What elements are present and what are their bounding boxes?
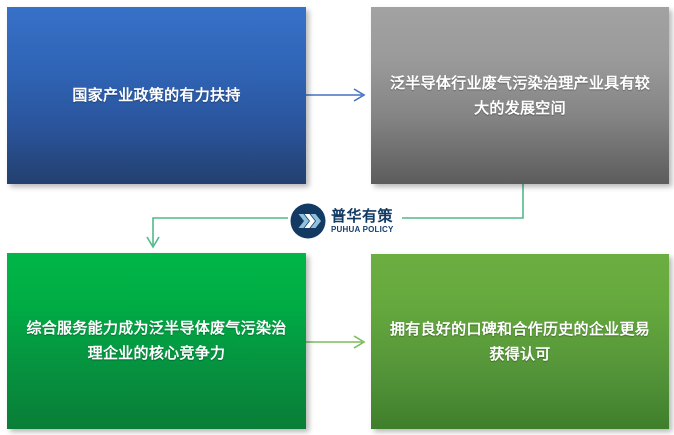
logo-name-cn: 普华有策 (331, 209, 394, 224)
node-policy-label: 国家产业政策的有力扶持 (21, 83, 292, 108)
brand-logo: 普华有策 PUHUA POLICY (288, 202, 402, 240)
node-policy[interactable]: 国家产业政策的有力扶持 (7, 7, 306, 184)
connector-policy-to-market (306, 89, 364, 101)
node-service-label: 综合服务能力成为泛半导体废气污染治理企业的核心竞争力 (21, 316, 292, 366)
logo-wordmark: 普华有策 PUHUA POLICY (331, 209, 394, 234)
chevron-circle-logo-icon (290, 203, 326, 239)
diagram-canvas: 国家产业政策的有力扶持 泛半导体行业废气污染治理产业具有较大的发展空间 综合服务… (0, 0, 674, 435)
node-reputation[interactable]: 拥有良好的口碑和合作历史的企业更易获得认可 (371, 254, 669, 429)
node-service[interactable]: 综合服务能力成为泛半导体废气污染治理企业的核心竞争力 (7, 253, 306, 429)
node-reputation-label: 拥有良好的口碑和合作历史的企业更易获得认可 (385, 317, 655, 367)
node-market-label: 泛半导体行业废气污染治理产业具有较大的发展空间 (385, 71, 655, 121)
logo-name-en: PUHUA POLICY (331, 226, 394, 234)
node-market[interactable]: 泛半导体行业废气污染治理产业具有较大的发展空间 (371, 7, 669, 184)
connector-service-to-reputation (306, 336, 364, 348)
